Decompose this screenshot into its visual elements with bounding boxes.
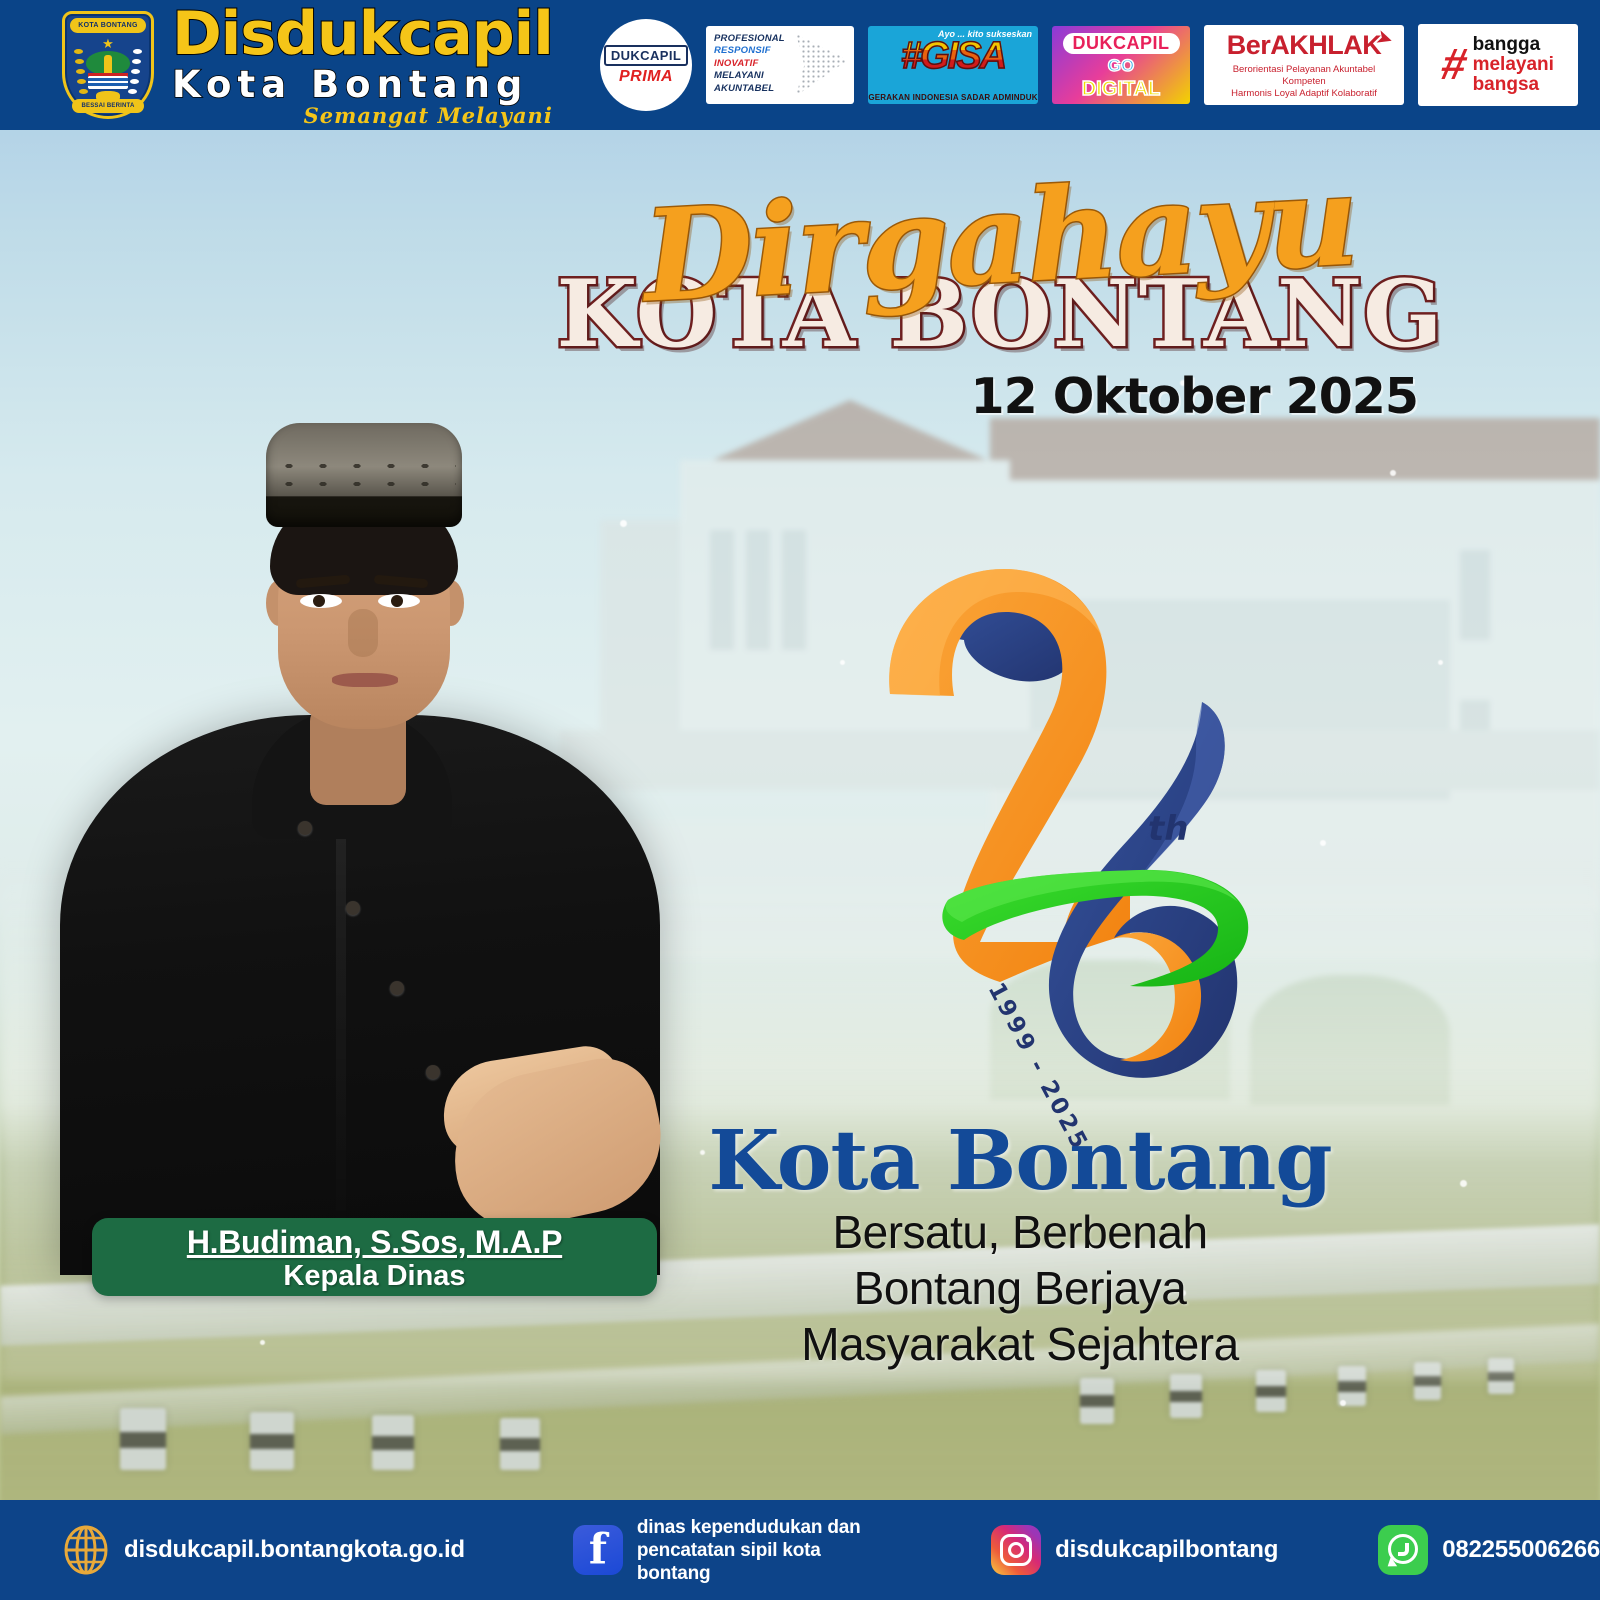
brand-lockup: Disdukcapil Kota Bontang Semangat Melaya… xyxy=(172,4,553,126)
dukcapil-prima-badge-icon: DUKCAPIL PRIMA xyxy=(600,19,692,111)
header-badge-strip: DUKCAPIL PRIMA PROFESIONAL RESPONSIF INO… xyxy=(600,19,1578,111)
value-akuntabel: AKUNTABEL xyxy=(714,83,846,95)
footer-bar: disdukcapil.bontangkota.go.id dinas kepe… xyxy=(0,1500,1600,1600)
brand-tagline: Semangat Melayani xyxy=(172,105,553,126)
officer-name: H.Budiman, S.Sos, M.A.P xyxy=(92,1224,657,1260)
footer-whatsapp[interactable]: 082255006266 xyxy=(1378,1525,1600,1575)
berakhlak-title-text: BerAKHLAK xyxy=(1227,30,1382,60)
instagram-icon xyxy=(991,1525,1041,1575)
crest-top-label: KOTA BONTANG xyxy=(70,18,146,33)
godigital-line3: DIGITAL xyxy=(1082,78,1161,101)
slogan-city-name: Kota Bontang xyxy=(660,1118,1380,1204)
bangga-line3: bangsa xyxy=(1473,75,1554,95)
brand-subtitle: Kota Bontang xyxy=(172,66,553,103)
facebook-handle-line1: dinas kependudukan dan xyxy=(637,1516,887,1539)
berakhlak-sub2: Harmonis Loyal Adaptif Kolaboratif xyxy=(1231,88,1377,100)
profesional-values-badge-icon: PROFESIONAL RESPONSIF INOVATIF MELAYANI … xyxy=(706,26,854,104)
facebook-icon xyxy=(573,1525,623,1575)
footer-instagram[interactable]: disdukcapilbontang xyxy=(991,1525,1278,1575)
dukcapil-go-digital-badge-icon: DUKCAPIL GO DIGITAL xyxy=(1052,26,1190,104)
godigital-line2: GO xyxy=(1108,56,1134,76)
officer-position: Kepala Dinas xyxy=(92,1260,657,1292)
bangga-melayani-bangsa-badge-icon: # bangga melayani bangsa xyxy=(1418,24,1578,106)
facebook-handle: dinas kependudukan dan pencatatan sipil … xyxy=(637,1516,887,1585)
kota-bontang-crest-icon: KOTA BONTANG ★ xyxy=(62,11,154,119)
godigital-line1: DUKCAPIL xyxy=(1063,33,1180,54)
brand-title: Disdukcapil xyxy=(172,4,553,64)
globe-icon xyxy=(62,1524,110,1576)
slogan-block: Kota Bontang Bersatu, Berbenah Bontang B… xyxy=(660,1118,1380,1372)
slogan-line-3: Masyarakat Sejahtera xyxy=(660,1316,1380,1372)
prima-line2: PRIMA xyxy=(619,68,673,86)
anniversary-26th-logo-icon: th 1999 - 2025 xyxy=(830,530,1260,1110)
footer-website[interactable]: disdukcapil.bontangkota.go.id xyxy=(62,1524,465,1576)
facebook-handle-line2: pencatatan sipil kota bontang xyxy=(637,1539,887,1585)
gisa-badge-icon: Ayo ... kito sukseskan #GISA GERAKAN IND… xyxy=(868,26,1038,104)
bangga-line2: melayani xyxy=(1473,55,1554,75)
whatsapp-number: 082255006266 xyxy=(1442,1536,1600,1564)
value-profesional: PROFESIONAL xyxy=(714,33,846,45)
header-bar: KOTA BONTANG ★ xyxy=(0,0,1600,130)
officer-nameplate: H.Budiman, S.Sos, M.A.P Kepala Dinas xyxy=(92,1218,657,1296)
instagram-handle: disdukcapilbontang xyxy=(1055,1536,1278,1564)
hash-icon: # xyxy=(1437,43,1471,87)
berakhlak-title: BerAKHLAK➤ xyxy=(1227,30,1382,61)
officer-portrait-photo xyxy=(60,395,680,1275)
title-block: Dirgahayu KOTA BONTANG 12 Oktober 2025 xyxy=(500,175,1500,425)
gisa-wordmark: #GISA xyxy=(901,39,1005,73)
poster-root: KOTA BONTANG ★ xyxy=(0,0,1600,1600)
footer-facebook[interactable]: dinas kependudukan dan pencatatan sipil … xyxy=(573,1516,887,1585)
whatsapp-icon xyxy=(1378,1525,1428,1575)
event-date: 12 Oktober 2025 xyxy=(500,368,1500,425)
bangga-line1: bangga xyxy=(1473,35,1554,55)
prima-line1: DUKCAPIL xyxy=(604,45,688,66)
slogan-line-1: Bersatu, Berbenah xyxy=(660,1204,1380,1260)
crest-bottom-label: BESSAI BERINTA xyxy=(72,99,144,113)
slogan-line-2: Bontang Berjaya xyxy=(660,1260,1380,1316)
website-url: disdukcapil.bontangkota.go.id xyxy=(124,1536,465,1564)
anniversary-ordinal-text: th xyxy=(1148,809,1188,849)
berakhlak-sub1: Berorientasi Pelayanan Akuntabel Kompete… xyxy=(1212,64,1396,88)
gisa-bottom-text: GERAKAN INDONESIA SADAR ADMINDUK xyxy=(868,93,1038,102)
berakhlak-badge-icon: BerAKHLAK➤ Berorientasi Pelayanan Akunta… xyxy=(1204,25,1404,105)
